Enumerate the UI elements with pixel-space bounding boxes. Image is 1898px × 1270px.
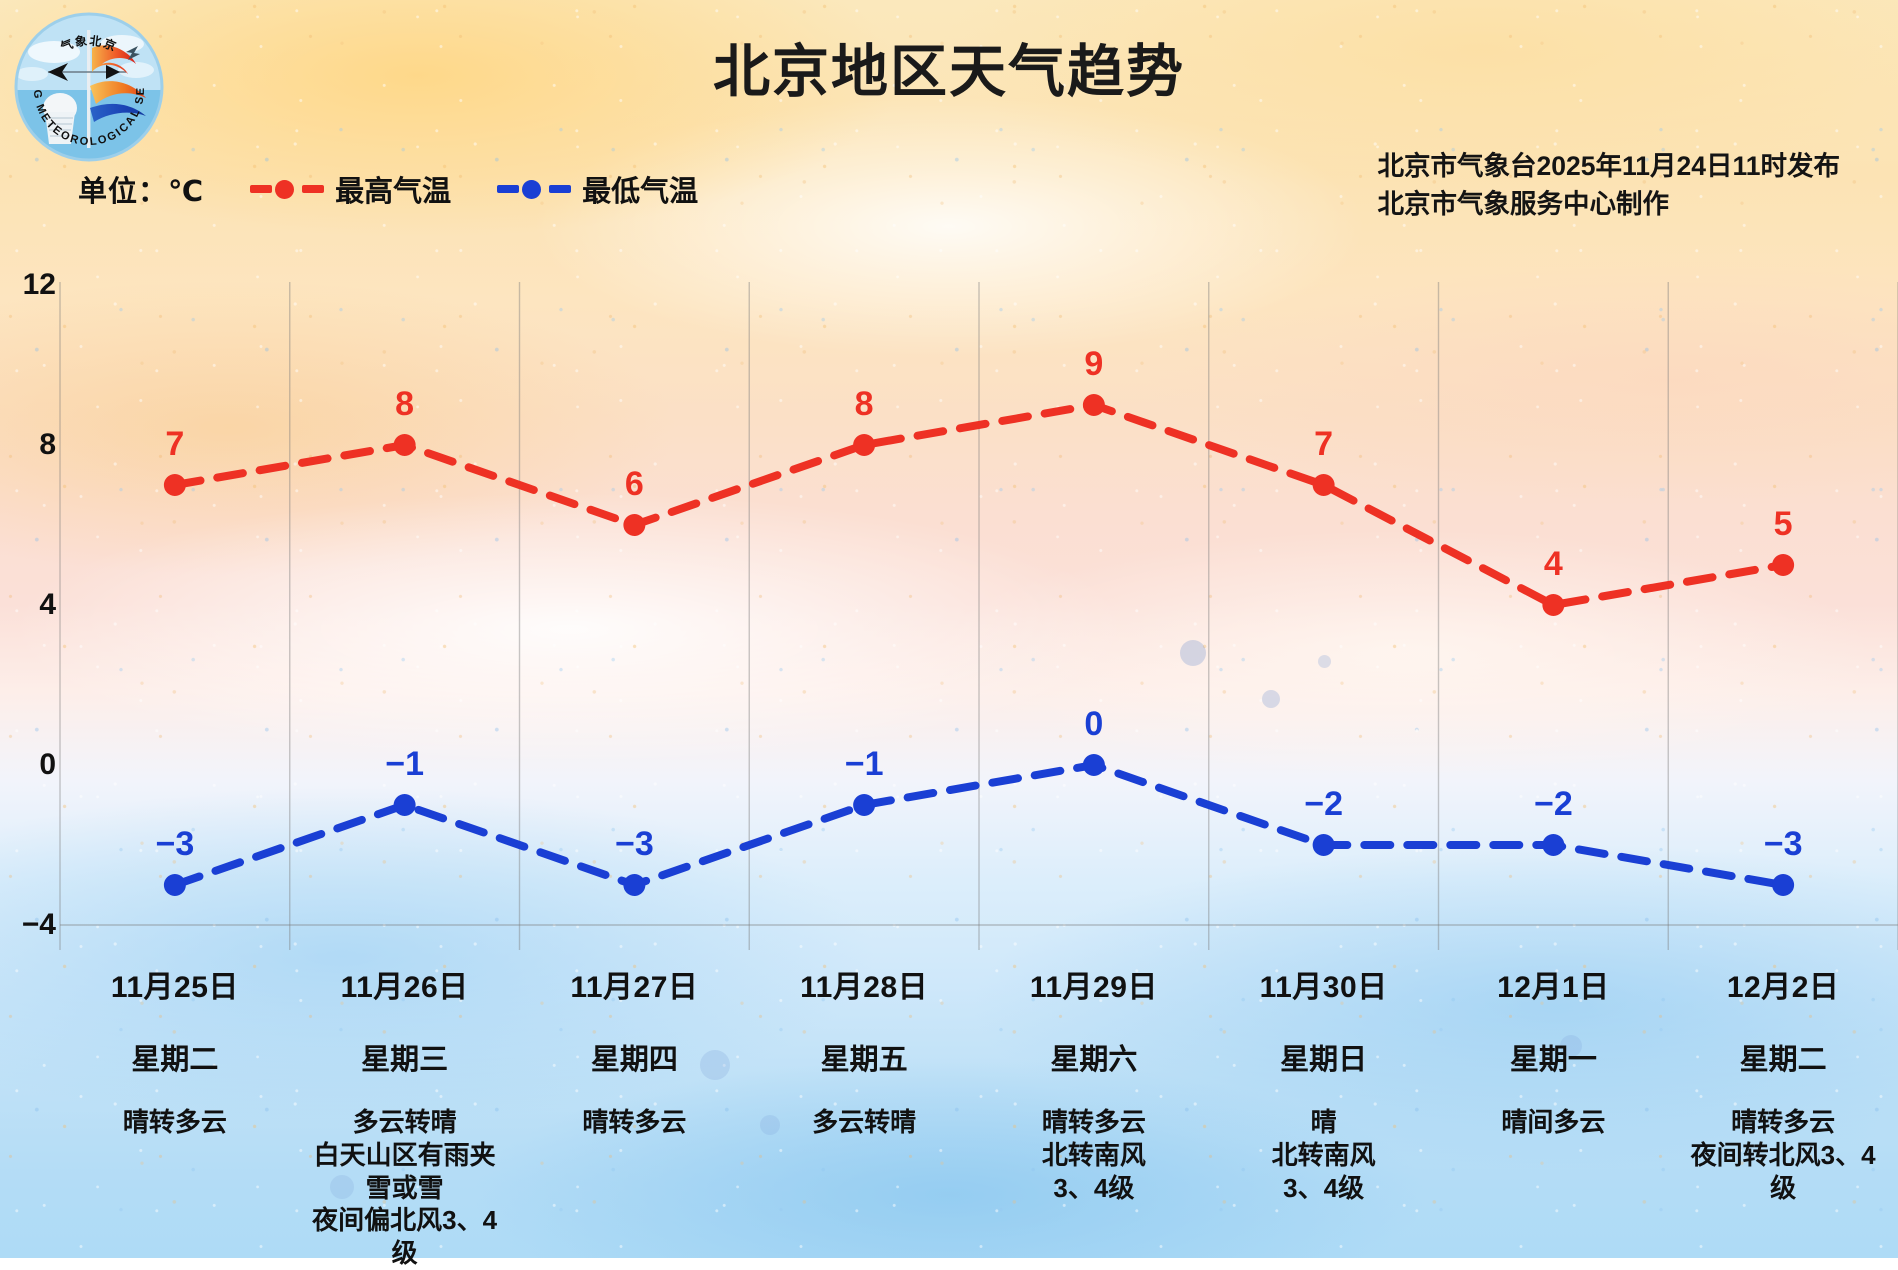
day-date: 12月1日 — [1497, 962, 1610, 1006]
day-column[interactable]: 11月27日星期四晴转多云 — [520, 956, 750, 1258]
page-title: 北京地区天气趋势 — [0, 26, 1898, 108]
day-column[interactable]: 11月26日星期三多云转晴 白天山区有雨夹 雪或雪 夜间偏北风3、4 级 — [290, 956, 520, 1258]
data-point-marker — [853, 794, 875, 816]
data-point-label: −2 — [1534, 785, 1573, 823]
data-point-label: −3 — [615, 825, 654, 863]
publisher-line-1: 北京市气象台2025年11月24日11时发布 — [1378, 148, 1840, 186]
data-point-marker — [1542, 594, 1564, 616]
day-column[interactable]: 11月25日星期二晴转多云 — [60, 956, 290, 1258]
data-point-label: −1 — [385, 745, 424, 783]
data-point-marker — [1772, 554, 1794, 576]
data-point-marker — [164, 874, 186, 896]
day-weekday: 星期三 — [361, 1036, 448, 1078]
y-axis-tick-label: 12 — [0, 268, 56, 302]
y-axis-tick-label: −4 — [0, 908, 56, 942]
day-weather-description: 晴转多云 夜间转北风3、4 级 — [1691, 1106, 1876, 1204]
data-point-label: −1 — [845, 745, 884, 783]
data-point-marker — [1083, 754, 1105, 776]
data-point-label: 6 — [625, 465, 644, 503]
day-weekday: 星期二 — [131, 1036, 218, 1078]
chart-legend: 单位：℃ 最高气温 最低气温 — [78, 168, 698, 210]
data-point-marker — [394, 794, 416, 816]
data-point-label: 8 — [395, 385, 414, 423]
data-point-label: 0 — [1084, 705, 1103, 743]
data-point-marker — [164, 474, 186, 496]
data-point-marker — [623, 514, 645, 536]
y-axis-tick-label: 0 — [0, 748, 56, 782]
data-point-marker — [1313, 834, 1335, 856]
day-column[interactable]: 12月1日星期一晴间多云 — [1439, 956, 1669, 1258]
y-axis-tick-label: 4 — [0, 588, 56, 622]
temperature-line-chart: 78689745−3−1−3−10−2−2−3 — [0, 282, 1898, 950]
day-weather-description: 晴转多云 — [582, 1106, 686, 1139]
publisher-info: 北京市气象台2025年11月24日11时发布 北京市气象服务中心制作 — [1378, 148, 1840, 223]
day-weekday: 星期二 — [1740, 1036, 1827, 1078]
beijing-meteorological-service-logo: BEIJING METEOROLOGICAL SERVICE 气象北京 — [14, 12, 164, 162]
data-point-marker — [1542, 834, 1564, 856]
legend-label-low: 最低气温 — [582, 168, 698, 210]
day-date: 11月30日 — [1260, 962, 1388, 1006]
day-weekday: 星期四 — [591, 1036, 678, 1078]
data-point-label: −2 — [1304, 785, 1343, 823]
legend-item-low: 最低气温 — [497, 168, 698, 210]
day-date: 11月25日 — [111, 962, 239, 1006]
y-axis: 12840−4 — [0, 282, 60, 950]
logo-icon: BEIJING METEOROLOGICAL SERVICE 气象北京 — [14, 12, 164, 162]
day-weekday: 星期六 — [1050, 1036, 1137, 1078]
day-date: 11月28日 — [800, 962, 928, 1006]
data-point-label: −3 — [1764, 825, 1803, 863]
day-weather-description: 晴 北转南风 3、4级 — [1272, 1106, 1376, 1204]
data-point-marker — [394, 434, 416, 456]
day-weekday: 星期五 — [821, 1036, 908, 1078]
day-weather-description: 多云转晴 — [812, 1106, 916, 1139]
day-column[interactable]: 11月30日星期日晴 北转南风 3、4级 — [1209, 956, 1439, 1258]
data-point-label: 7 — [1314, 425, 1333, 463]
data-point-label: 5 — [1774, 505, 1793, 543]
unit-label: 单位：℃ — [78, 168, 204, 210]
day-date: 11月29日 — [1030, 962, 1158, 1006]
data-point-label: 9 — [1084, 345, 1103, 383]
day-weekday: 星期一 — [1510, 1036, 1597, 1078]
data-point-marker — [853, 434, 875, 456]
day-column[interactable]: 11月28日星期五多云转晴 — [749, 956, 979, 1258]
day-weather-description: 晴转多云 北转南风 3、4级 — [1042, 1106, 1146, 1204]
data-point-label: 4 — [1544, 545, 1563, 583]
legend-label-high: 最高气温 — [335, 168, 451, 210]
day-weather-description: 多云转晴 白天山区有雨夹 雪或雪 夜间偏北风3、4 级 — [312, 1106, 497, 1270]
x-axis-day-columns: 11月25日星期二晴转多云11月26日星期三多云转晴 白天山区有雨夹 雪或雪 夜… — [60, 956, 1898, 1258]
data-point-label: −3 — [155, 825, 194, 863]
data-point-label: 7 — [165, 425, 184, 463]
legend-item-high: 最高气温 — [250, 168, 451, 210]
data-point-marker — [1083, 394, 1105, 416]
day-weather-description: 晴转多云 — [123, 1106, 227, 1139]
publisher-line-2: 北京市气象服务中心制作 — [1378, 186, 1840, 224]
data-point-marker — [1313, 474, 1335, 496]
day-date: 11月27日 — [570, 962, 698, 1006]
y-axis-tick-label: 8 — [0, 428, 56, 462]
data-point-label: 8 — [855, 385, 874, 423]
day-date: 11月26日 — [341, 962, 469, 1006]
day-column[interactable]: 11月29日星期六晴转多云 北转南风 3、4级 — [979, 956, 1209, 1258]
day-column[interactable]: 12月2日星期二晴转多云 夜间转北风3、4 级 — [1668, 956, 1898, 1258]
day-date: 12月2日 — [1727, 962, 1840, 1006]
legend-swatch-low — [497, 178, 571, 200]
data-point-marker — [623, 874, 645, 896]
legend-swatch-high — [250, 178, 324, 200]
data-point-marker — [1772, 874, 1794, 896]
day-weekday: 星期日 — [1280, 1036, 1367, 1078]
day-weather-description: 晴间多云 — [1501, 1106, 1605, 1139]
